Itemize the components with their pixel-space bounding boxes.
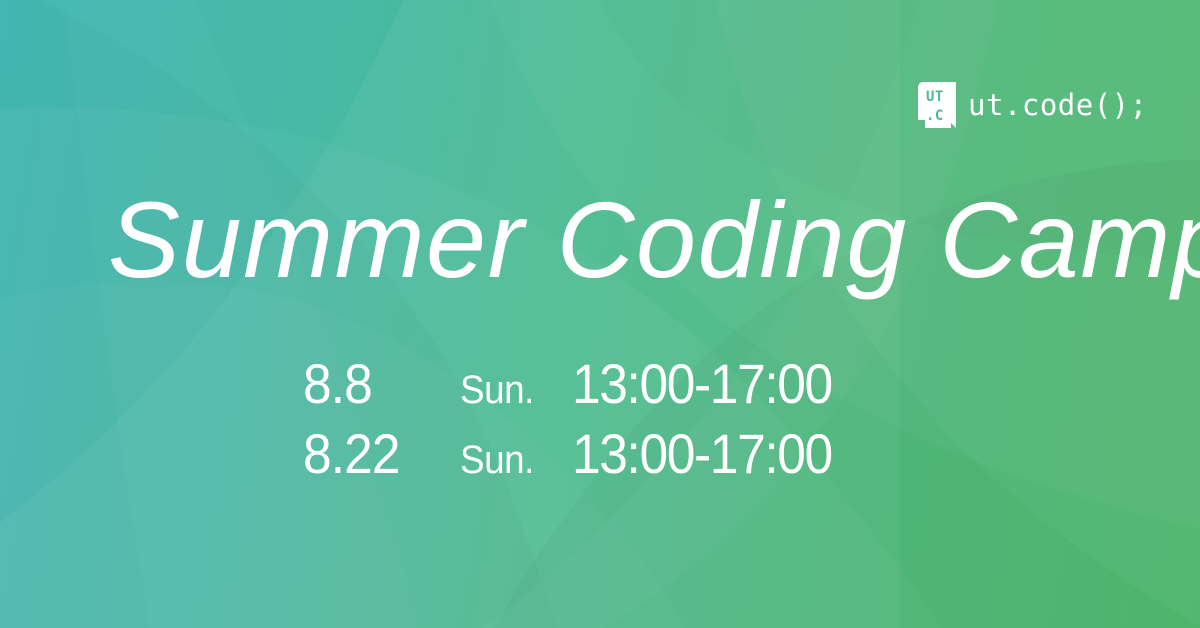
session-date: 8.22 xyxy=(303,426,447,482)
session-weekday: Sun. xyxy=(460,370,563,410)
page-title: Summer Coding Camp xyxy=(108,186,1118,294)
event-banner: UT .C ut.code(); Summer Coding Camp 8.8 … xyxy=(0,0,1200,628)
session-date: 8.8 xyxy=(303,356,447,412)
session-time: 13:00-17:00 xyxy=(572,426,832,482)
session-time: 13:00-17:00 xyxy=(572,356,832,412)
brand-wordmark: ut.code(); xyxy=(968,91,1148,120)
svg-text:.C: .C xyxy=(926,108,944,124)
brand-logo-lockup: UT .C ut.code(); xyxy=(918,82,1148,128)
svg-text:UT: UT xyxy=(926,89,944,105)
utcode-logo-mark-icon: UT .C xyxy=(918,82,956,128)
session-weekday: Sun. xyxy=(460,440,563,480)
schedule-row: 8.22 Sun. 13:00-17:00 xyxy=(303,426,854,496)
schedule-list: 8.8 Sun. 13:00-17:00 8.22 Sun. 13:00-17:… xyxy=(303,356,854,496)
schedule-row: 8.8 Sun. 13:00-17:00 xyxy=(303,356,854,426)
